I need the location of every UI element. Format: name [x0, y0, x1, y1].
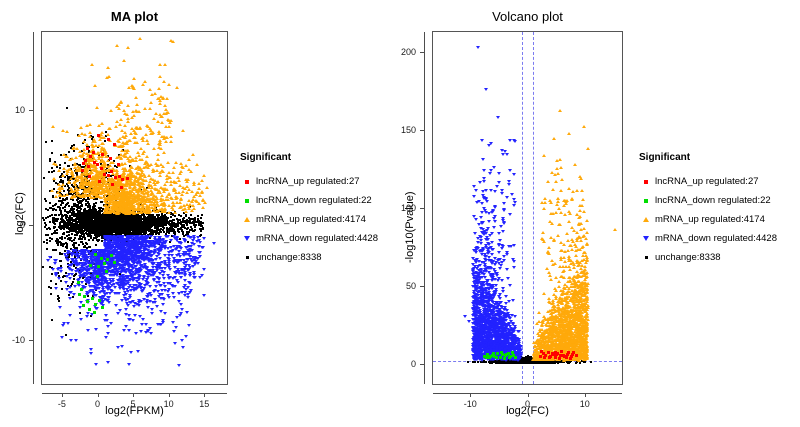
data-point-mrna-up	[164, 136, 168, 139]
data-point-mrna-up	[164, 125, 168, 128]
data-point-unchange	[107, 232, 109, 234]
data-point-mrna-up	[50, 189, 54, 192]
data-point-mrna-up	[67, 181, 71, 184]
data-point-unchange	[103, 217, 105, 219]
data-point-mrna-up	[130, 203, 134, 206]
data-point-mrna-up	[128, 183, 132, 186]
data-point-unchange	[88, 235, 90, 237]
data-point-mrna-up	[187, 168, 191, 171]
data-point-unchange	[75, 205, 77, 207]
data-point-mrna-up	[116, 208, 120, 211]
data-point-mrna-up	[153, 183, 157, 186]
data-point-unchange	[130, 226, 132, 228]
data-point-unchange	[59, 237, 61, 239]
data-point-unchange	[46, 248, 48, 250]
data-point-mrna-up	[85, 143, 89, 146]
data-point-mrna-up	[132, 136, 136, 139]
data-point-unchange	[167, 231, 169, 233]
data-point-mrna-up	[136, 188, 140, 191]
data-point-unchange	[56, 166, 58, 168]
data-point-unchange	[66, 231, 68, 233]
data-point-unchange	[118, 229, 120, 231]
data-point-mrna-up	[116, 203, 120, 206]
data-point-unchange	[86, 211, 88, 213]
data-point-mrna-up	[123, 184, 127, 187]
data-point-mrna-up	[123, 131, 127, 134]
data-point-unchange	[68, 205, 70, 207]
data-point-mrna-up	[203, 201, 207, 204]
data-point-unchange	[51, 238, 53, 240]
data-point-unchange	[67, 202, 69, 204]
data-point-unchange	[122, 216, 124, 218]
data-point-unchange	[189, 220, 191, 222]
data-point-unchange	[95, 244, 97, 246]
data-point-unchange	[193, 224, 195, 226]
data-point-mrna-up	[115, 105, 119, 108]
data-point-mrna-up	[106, 206, 110, 209]
data-point-mrna-up	[158, 102, 162, 105]
data-point-mrna-up	[171, 40, 175, 43]
data-point-unchange	[179, 219, 181, 221]
data-point-mrna-up	[187, 188, 191, 191]
data-point-mrna-up	[118, 137, 122, 140]
data-point-unchange	[75, 220, 77, 222]
data-point-unchange	[81, 229, 83, 231]
data-point-unchange	[60, 280, 62, 282]
data-point-unchange	[183, 225, 185, 227]
data-point-unchange	[70, 226, 72, 228]
data-point-mrna-up	[181, 129, 185, 132]
data-point-unchange	[41, 224, 42, 226]
data-point-mrna-up	[181, 190, 185, 193]
data-point-unchange	[138, 219, 140, 221]
data-point-mrna-up	[100, 147, 104, 150]
data-point-mrna-up	[178, 184, 182, 187]
data-point-mrna-up	[195, 163, 199, 166]
data-point-unchange	[58, 200, 60, 202]
data-point-mrna-up	[156, 164, 160, 167]
data-point-mrna-up	[58, 194, 62, 197]
data-point-unchange	[85, 232, 87, 234]
data-point-mrna-up	[174, 197, 178, 200]
data-point-mrna-up	[123, 112, 127, 115]
data-point-mrna-up	[136, 180, 140, 183]
data-point-mrna-up	[143, 80, 147, 83]
data-point-unchange	[71, 217, 73, 219]
data-point-unchange	[123, 226, 125, 228]
data-point-mrna-up	[91, 177, 95, 180]
data-point-mrna-up	[179, 162, 183, 165]
data-point-mrna-up	[161, 165, 165, 168]
data-point-mrna-up	[123, 124, 127, 127]
data-point-mrna-up	[122, 169, 126, 172]
data-point-unchange	[84, 208, 86, 210]
data-point-mrna-up	[92, 182, 96, 185]
data-point-unchange	[82, 243, 84, 245]
data-point-unchange	[45, 141, 47, 143]
data-point-mrna-up	[167, 171, 171, 174]
data-point-mrna-up	[134, 96, 138, 99]
data-point-mrna-up	[187, 207, 191, 210]
data-point-mrna-up	[126, 46, 130, 49]
data-point-mrna-up	[155, 169, 159, 172]
data-point-unchange	[143, 228, 145, 230]
data-point-unchange	[71, 233, 73, 235]
data-point-mrna-up	[152, 147, 156, 150]
data-point-unchange	[150, 219, 152, 221]
data-point-mrna-up	[154, 112, 158, 115]
data-point-unchange	[73, 208, 75, 210]
data-point-mrna-up	[149, 193, 153, 196]
data-point-mrna-up	[122, 109, 126, 112]
data-point-mrna-up	[107, 127, 111, 130]
data-point-unchange	[61, 238, 63, 240]
data-point-mrna-up	[91, 140, 95, 143]
data-point-mrna-up	[106, 66, 110, 69]
data-point-unchange	[139, 225, 141, 227]
data-point-mrna-up	[168, 121, 172, 124]
data-point-mrna-up	[161, 209, 165, 212]
data-point-unchange	[190, 214, 192, 216]
data-point-mrna-up	[106, 133, 110, 136]
data-point-unchange	[191, 218, 193, 220]
data-point-mrna-up	[172, 166, 176, 169]
data-point-unchange	[182, 231, 184, 233]
data-point-unchange	[64, 162, 66, 164]
data-point-mrna-up	[171, 171, 175, 174]
data-point-unchange	[185, 214, 187, 216]
data-point-unchange	[82, 218, 84, 220]
data-point-mrna-up	[144, 165, 148, 168]
data-point-unchange	[181, 226, 183, 228]
data-point-unchange	[51, 140, 53, 142]
data-point-unchange	[100, 201, 102, 203]
data-point-unchange	[59, 227, 61, 229]
data-point-unchange	[61, 288, 63, 290]
data-point-unchange	[70, 237, 72, 239]
data-point-mrna-up	[162, 80, 166, 83]
data-point-mrna-up	[162, 151, 166, 154]
data-point-mrna-up	[134, 132, 138, 135]
data-point-mrna-up	[163, 104, 167, 107]
data-point-unchange	[80, 235, 82, 237]
data-point-mrna-up	[169, 183, 173, 186]
data-point-unchange	[90, 213, 92, 215]
data-point-mrna-up	[70, 170, 74, 173]
data-point-mrna-up	[147, 174, 151, 177]
data-point-unchange	[134, 223, 136, 225]
data-point-unchange	[202, 227, 204, 229]
data-point-unchange	[95, 209, 97, 211]
data-point-unchange	[199, 228, 201, 230]
data-point-unchange	[52, 208, 54, 210]
data-point-unchange	[165, 216, 167, 218]
data-point-mrna-up	[79, 186, 83, 189]
data-point-unchange	[88, 204, 90, 206]
data-point-mrna-up	[155, 200, 159, 203]
data-point-unchange	[55, 240, 57, 242]
data-point-unchange	[155, 233, 157, 235]
data-point-unchange	[78, 244, 80, 246]
data-point-unchange	[163, 227, 165, 229]
data-point-mrna-up	[90, 63, 94, 66]
data-point-mrna-up	[148, 180, 152, 183]
data-point-mrna-up	[115, 180, 119, 183]
data-point-mrna-up	[121, 141, 125, 144]
data-point-unchange	[89, 229, 91, 231]
data-point-mrna-up	[180, 165, 184, 168]
data-point-mrna-up	[92, 192, 96, 195]
data-point-unchange	[186, 228, 188, 230]
data-point-unchange	[100, 225, 102, 227]
data-point-unchange	[95, 202, 97, 204]
data-point-mrna-up	[165, 97, 169, 100]
data-point-unchange	[42, 266, 44, 268]
data-point-unchange	[55, 209, 57, 211]
data-point-unchange	[172, 219, 174, 221]
data-point-mrna-up	[80, 154, 84, 157]
data-point-mrna-up	[132, 129, 136, 132]
data-point-mrna-up	[162, 112, 166, 115]
data-point-mrna-up	[163, 63, 167, 66]
data-point-mrna-up	[169, 140, 173, 143]
data-point-unchange	[73, 150, 75, 152]
data-point-mrna-up	[78, 150, 82, 153]
data-point-mrna-up	[187, 158, 191, 161]
data-point-unchange	[93, 203, 95, 205]
data-point-mrna-up	[164, 198, 168, 201]
data-point-mrna-up	[139, 147, 143, 150]
data-point-mrna-up	[167, 211, 171, 214]
data-point-unchange	[171, 225, 173, 227]
data-point-mrna-up	[95, 106, 99, 109]
data-point-mrna-up	[177, 191, 181, 194]
data-point-unchange	[100, 219, 102, 221]
data-point-unchange	[45, 234, 47, 236]
data-point-unchange	[159, 230, 161, 232]
data-point-mrna-up	[185, 180, 189, 183]
data-point-unchange	[198, 224, 200, 226]
data-point-unchange	[179, 228, 181, 230]
data-point-unchange	[85, 204, 87, 206]
data-point-unchange	[56, 219, 58, 221]
data-point-unchange	[43, 177, 45, 179]
data-point-mrna-up	[179, 205, 183, 208]
data-point-unchange	[78, 214, 80, 216]
data-point-unchange	[66, 107, 68, 109]
data-point-mrna-up	[146, 142, 150, 145]
data-point-unchange	[43, 219, 45, 221]
data-point-unchange	[53, 219, 55, 221]
data-point-unchange	[65, 242, 67, 244]
data-point-mrna-up	[205, 186, 209, 189]
data-point-unchange	[85, 199, 87, 201]
data-point-mrna-up	[158, 174, 162, 177]
data-point-unchange	[177, 223, 179, 225]
data-point-mrna-up	[106, 192, 110, 195]
data-point-unchange	[66, 211, 68, 213]
data-point-mrna-up	[155, 210, 159, 213]
data-point-mrna-up	[99, 186, 103, 189]
data-point-mrna-up	[191, 153, 195, 156]
data-point-unchange	[152, 224, 154, 226]
data-point-mrna-up	[174, 161, 178, 164]
data-point-unchange	[178, 214, 180, 216]
data-point-mrna-up	[115, 44, 119, 47]
data-point-mrna-up	[124, 134, 128, 137]
data-point-mrna-up	[201, 206, 205, 209]
data-point-mrna-up	[52, 177, 56, 180]
data-point-unchange	[189, 222, 191, 224]
data-point-unchange	[68, 151, 70, 153]
data-point-unchange	[64, 206, 66, 208]
data-point-unchange	[194, 217, 196, 219]
data-point-unchange	[98, 228, 100, 230]
data-point-mrna-up	[184, 210, 188, 213]
data-point-mrna-up	[115, 156, 119, 159]
data-point-unchange	[48, 286, 50, 288]
data-point-unchange	[137, 230, 139, 232]
data-point-unchange	[55, 203, 57, 205]
data-point-mrna-up	[126, 120, 130, 123]
data-point-unchange	[163, 222, 165, 224]
data-point-mrna-up	[114, 188, 118, 191]
data-point-unchange	[120, 230, 122, 232]
data-point-unchange	[163, 224, 165, 226]
data-point-mrna-up	[130, 116, 134, 119]
data-point-mrna-up	[122, 59, 126, 62]
data-point-mrna-up	[135, 103, 139, 106]
data-point-unchange	[60, 204, 62, 206]
data-point-mrna-up	[112, 202, 116, 205]
data-point-mrna-up	[73, 166, 77, 169]
data-point-mrna-up	[88, 131, 92, 134]
data-point-mrna-up	[100, 122, 104, 125]
data-point-mrna-up	[51, 125, 55, 128]
data-point-unchange	[57, 244, 59, 246]
data-point-unchange	[84, 237, 86, 239]
data-point-unchange	[191, 228, 193, 230]
data-point-mrna-up	[114, 194, 118, 197]
data-point-mrna-up	[198, 194, 202, 197]
data-point-unchange	[51, 214, 53, 216]
data-point-mrna-up	[74, 186, 78, 189]
data-point-unchange	[73, 242, 75, 244]
data-point-mrna-up	[174, 181, 178, 184]
data-point-unchange	[147, 216, 149, 218]
data-point-unchange	[68, 231, 70, 233]
data-point-unchange	[155, 222, 157, 224]
data-point-unchange	[49, 240, 51, 242]
data-point-mrna-up	[155, 202, 159, 205]
data-point-mrna-up	[101, 142, 105, 145]
data-point-unchange	[62, 276, 64, 278]
data-point-unchange	[58, 300, 60, 302]
data-point-unchange	[104, 228, 106, 230]
data-point-unchange	[50, 280, 52, 282]
data-point-mrna-up	[81, 183, 85, 186]
data-point-mrna-up	[156, 120, 160, 123]
data-point-mrna-up	[135, 171, 139, 174]
data-point-unchange	[99, 209, 101, 211]
data-point-mrna-up	[85, 188, 89, 191]
data-point-mrna-up	[65, 193, 69, 196]
data-point-mrna-up	[148, 203, 152, 206]
data-point-mrna-up	[148, 107, 152, 110]
data-point-unchange	[194, 226, 196, 228]
data-point-unchange	[44, 198, 46, 200]
data-point-mrna-up	[156, 97, 160, 100]
data-point-mrna-up	[78, 194, 82, 197]
data-point-unchange	[108, 228, 110, 230]
data-point-mrna-up	[103, 163, 107, 166]
data-point-mrna-up	[141, 136, 145, 139]
data-point-unchange	[55, 249, 57, 251]
data-point-unchange	[158, 222, 160, 224]
data-point-unchange	[160, 216, 162, 218]
data-point-unchange	[49, 215, 51, 217]
data-point-unchange	[117, 231, 119, 233]
data-point-mrna-up	[123, 201, 127, 204]
data-point-mrna-up	[65, 130, 69, 133]
data-point-unchange	[149, 220, 151, 222]
data-point-mrna-up	[144, 179, 148, 182]
data-point-mrna-up	[166, 161, 170, 164]
data-point-mrna-up	[138, 127, 142, 130]
data-point-mrna-up	[95, 189, 99, 192]
data-point-mrna-up	[197, 182, 201, 185]
data-point-mrna-up	[88, 123, 92, 126]
data-point-mrna-up	[150, 93, 154, 96]
data-point-mrna-up	[169, 135, 173, 138]
data-point-mrna-up	[115, 169, 119, 172]
data-point-mrna-up	[152, 117, 156, 120]
data-point-mrna-up	[156, 180, 160, 183]
data-point-unchange	[75, 242, 77, 244]
data-point-mrna-up	[138, 166, 142, 169]
data-point-mrna-up	[167, 193, 171, 196]
data-point-unchange	[59, 207, 61, 209]
data-point-unchange	[165, 222, 167, 224]
data-point-mrna-up	[141, 83, 145, 86]
data-point-unchange	[72, 220, 74, 222]
data-point-unchange	[60, 218, 62, 220]
data-point-unchange	[57, 206, 59, 208]
data-point-unchange	[182, 220, 184, 222]
data-point-unchange	[68, 237, 70, 239]
data-point-mrna-up	[108, 164, 112, 167]
data-point-unchange	[198, 221, 200, 223]
data-point-unchange	[85, 242, 87, 244]
data-point-unchange	[94, 237, 96, 239]
data-point-mrna-up	[192, 181, 196, 184]
data-point-unchange	[51, 273, 53, 275]
data-point-unchange	[46, 239, 48, 241]
data-point-mrna-up	[158, 63, 162, 66]
data-point-unchange	[81, 205, 83, 207]
data-point-unchange	[155, 218, 157, 220]
data-point-unchange	[111, 230, 113, 232]
data-point-mrna-up	[157, 130, 161, 133]
data-point-unchange	[132, 231, 134, 233]
data-point-unchange	[77, 227, 79, 229]
data-point-unchange	[197, 215, 199, 217]
data-point-mrna-up	[102, 182, 106, 185]
data-point-mrna-up	[57, 169, 61, 172]
data-point-mrna-up	[195, 200, 199, 203]
data-point-unchange	[46, 228, 48, 230]
data-point-unchange	[64, 214, 66, 216]
